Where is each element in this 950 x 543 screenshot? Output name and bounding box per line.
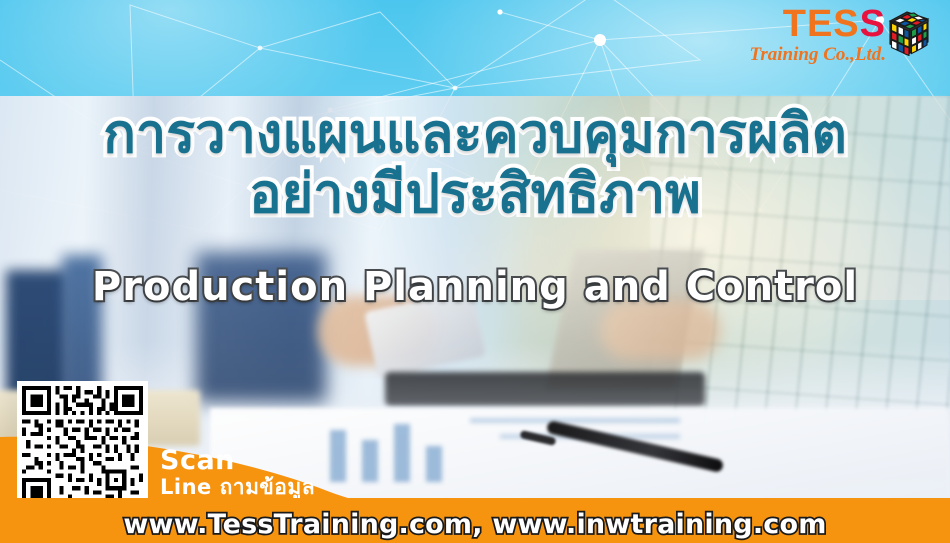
logo-tagline: Training Co.,Ltd.	[744, 44, 886, 66]
qr-code-container[interactable]	[17, 381, 148, 512]
scan-label: Scan	[160, 447, 315, 474]
scan-sublabel: Line ถามข้อมูล	[160, 475, 315, 499]
english-subtitle: Production Planning and Control	[0, 264, 950, 310]
course-title-block: การวางแผนและควบคุมการผลิต อย่างมีประสิทธ…	[0, 104, 950, 224]
logo-word-tess: TESS	[783, 6, 886, 42]
qr-code-icon	[22, 386, 143, 507]
rubiks-cube-icon	[886, 8, 932, 56]
tess-logo[interactable]: TESS Training Co.,Ltd.	[744, 6, 934, 80]
training-course-banner: TESS Training Co.,Ltd. การวางแผนและควบคุ…	[0, 0, 950, 543]
photo-laptop-base	[385, 372, 705, 406]
thai-title-line-1: การวางแผนและควบคุมการผลิต	[0, 104, 950, 164]
thai-title-line-2: อย่างมีประสิทธิภาพ	[0, 164, 950, 224]
footer-websites[interactable]: www.TessTraining.com, www.inwtraining.co…	[0, 509, 950, 540]
scan-line-callout: Scan Line ถามข้อมูล	[160, 447, 315, 499]
